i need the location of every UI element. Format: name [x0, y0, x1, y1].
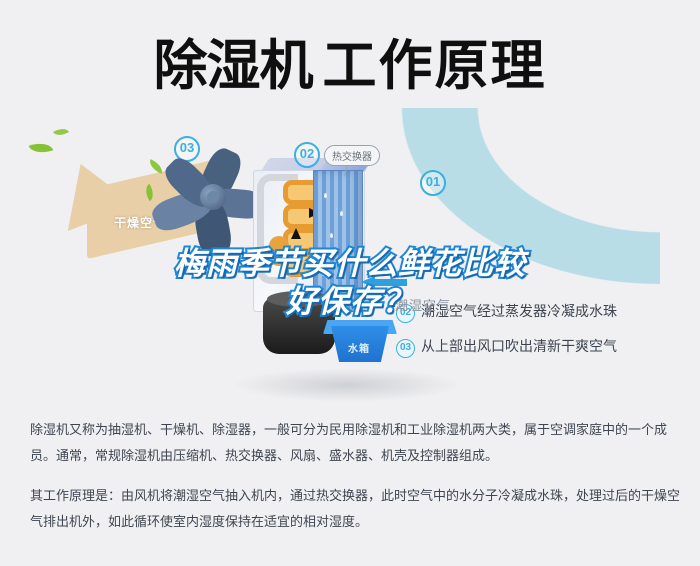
water-droplet-icon — [342, 287, 345, 292]
title-part1: 除湿机 — [154, 34, 313, 97]
title-text: 除湿机工作原理 — [154, 21, 547, 100]
body-paragraph-1: 除湿机又称为抽湿机、干燥机、除湿器，一般可分为民用除湿机和工业除湿机两大类，属于… — [30, 418, 680, 470]
water-droplet-icon — [330, 233, 333, 238]
leaf-icon — [53, 125, 69, 139]
badge-step-01: 01 — [420, 170, 446, 196]
leaf-icon — [29, 139, 54, 157]
description-step-03: 03从上部出风口吹出清新干爽空气 — [396, 336, 617, 358]
title-part2: 工作原理 — [323, 34, 547, 97]
machine-shadow — [232, 368, 462, 402]
body-paragraph-2: 其工作原理是：由风机将潮湿空气抽入机内，通过热交换器，此时空气中的水分子冷凝成水… — [30, 484, 680, 536]
infographic-page: 除湿机工作原理 干燥空气 03 — [0, 0, 700, 566]
water-tank: 水箱 — [323, 320, 395, 368]
flow-arrow-up-icon — [291, 228, 301, 239]
arrow-head — [361, 276, 375, 288]
evaporator-fins — [313, 170, 363, 312]
water-droplet-icon — [322, 271, 325, 276]
humid-air-inlet-arrow-icon — [361, 276, 407, 288]
article-body: 除湿机又称为抽湿机、干燥机、除湿器，一般可分为民用除湿机和工业除湿机两大类，属于… — [30, 418, 680, 550]
coil-bulb — [269, 236, 289, 266]
description-step-03-number: 03 — [396, 339, 415, 358]
fan-hub — [200, 184, 226, 210]
dehumidifier-cabinet: 水箱 — [245, 148, 395, 363]
heat-exchanger-callout: 热交换器 — [324, 145, 380, 166]
water-tank-label: 水箱 — [323, 340, 395, 355]
page-title: 除湿机工作原理 — [0, 0, 700, 120]
water-droplet-icon — [324, 193, 327, 198]
arrow-shaft — [373, 279, 407, 286]
water-droplet-icon — [348, 251, 351, 256]
badge-step-02: 02 — [294, 142, 320, 168]
dehumidifier-diagram: 干燥空气 03 — [0, 118, 700, 408]
water-droplet-icon — [340, 211, 343, 216]
description-step-03-text: 从上部出风口吹出清新干爽空气 — [421, 338, 617, 354]
humid-air-flow-label: 潮湿空气 — [395, 295, 451, 314]
